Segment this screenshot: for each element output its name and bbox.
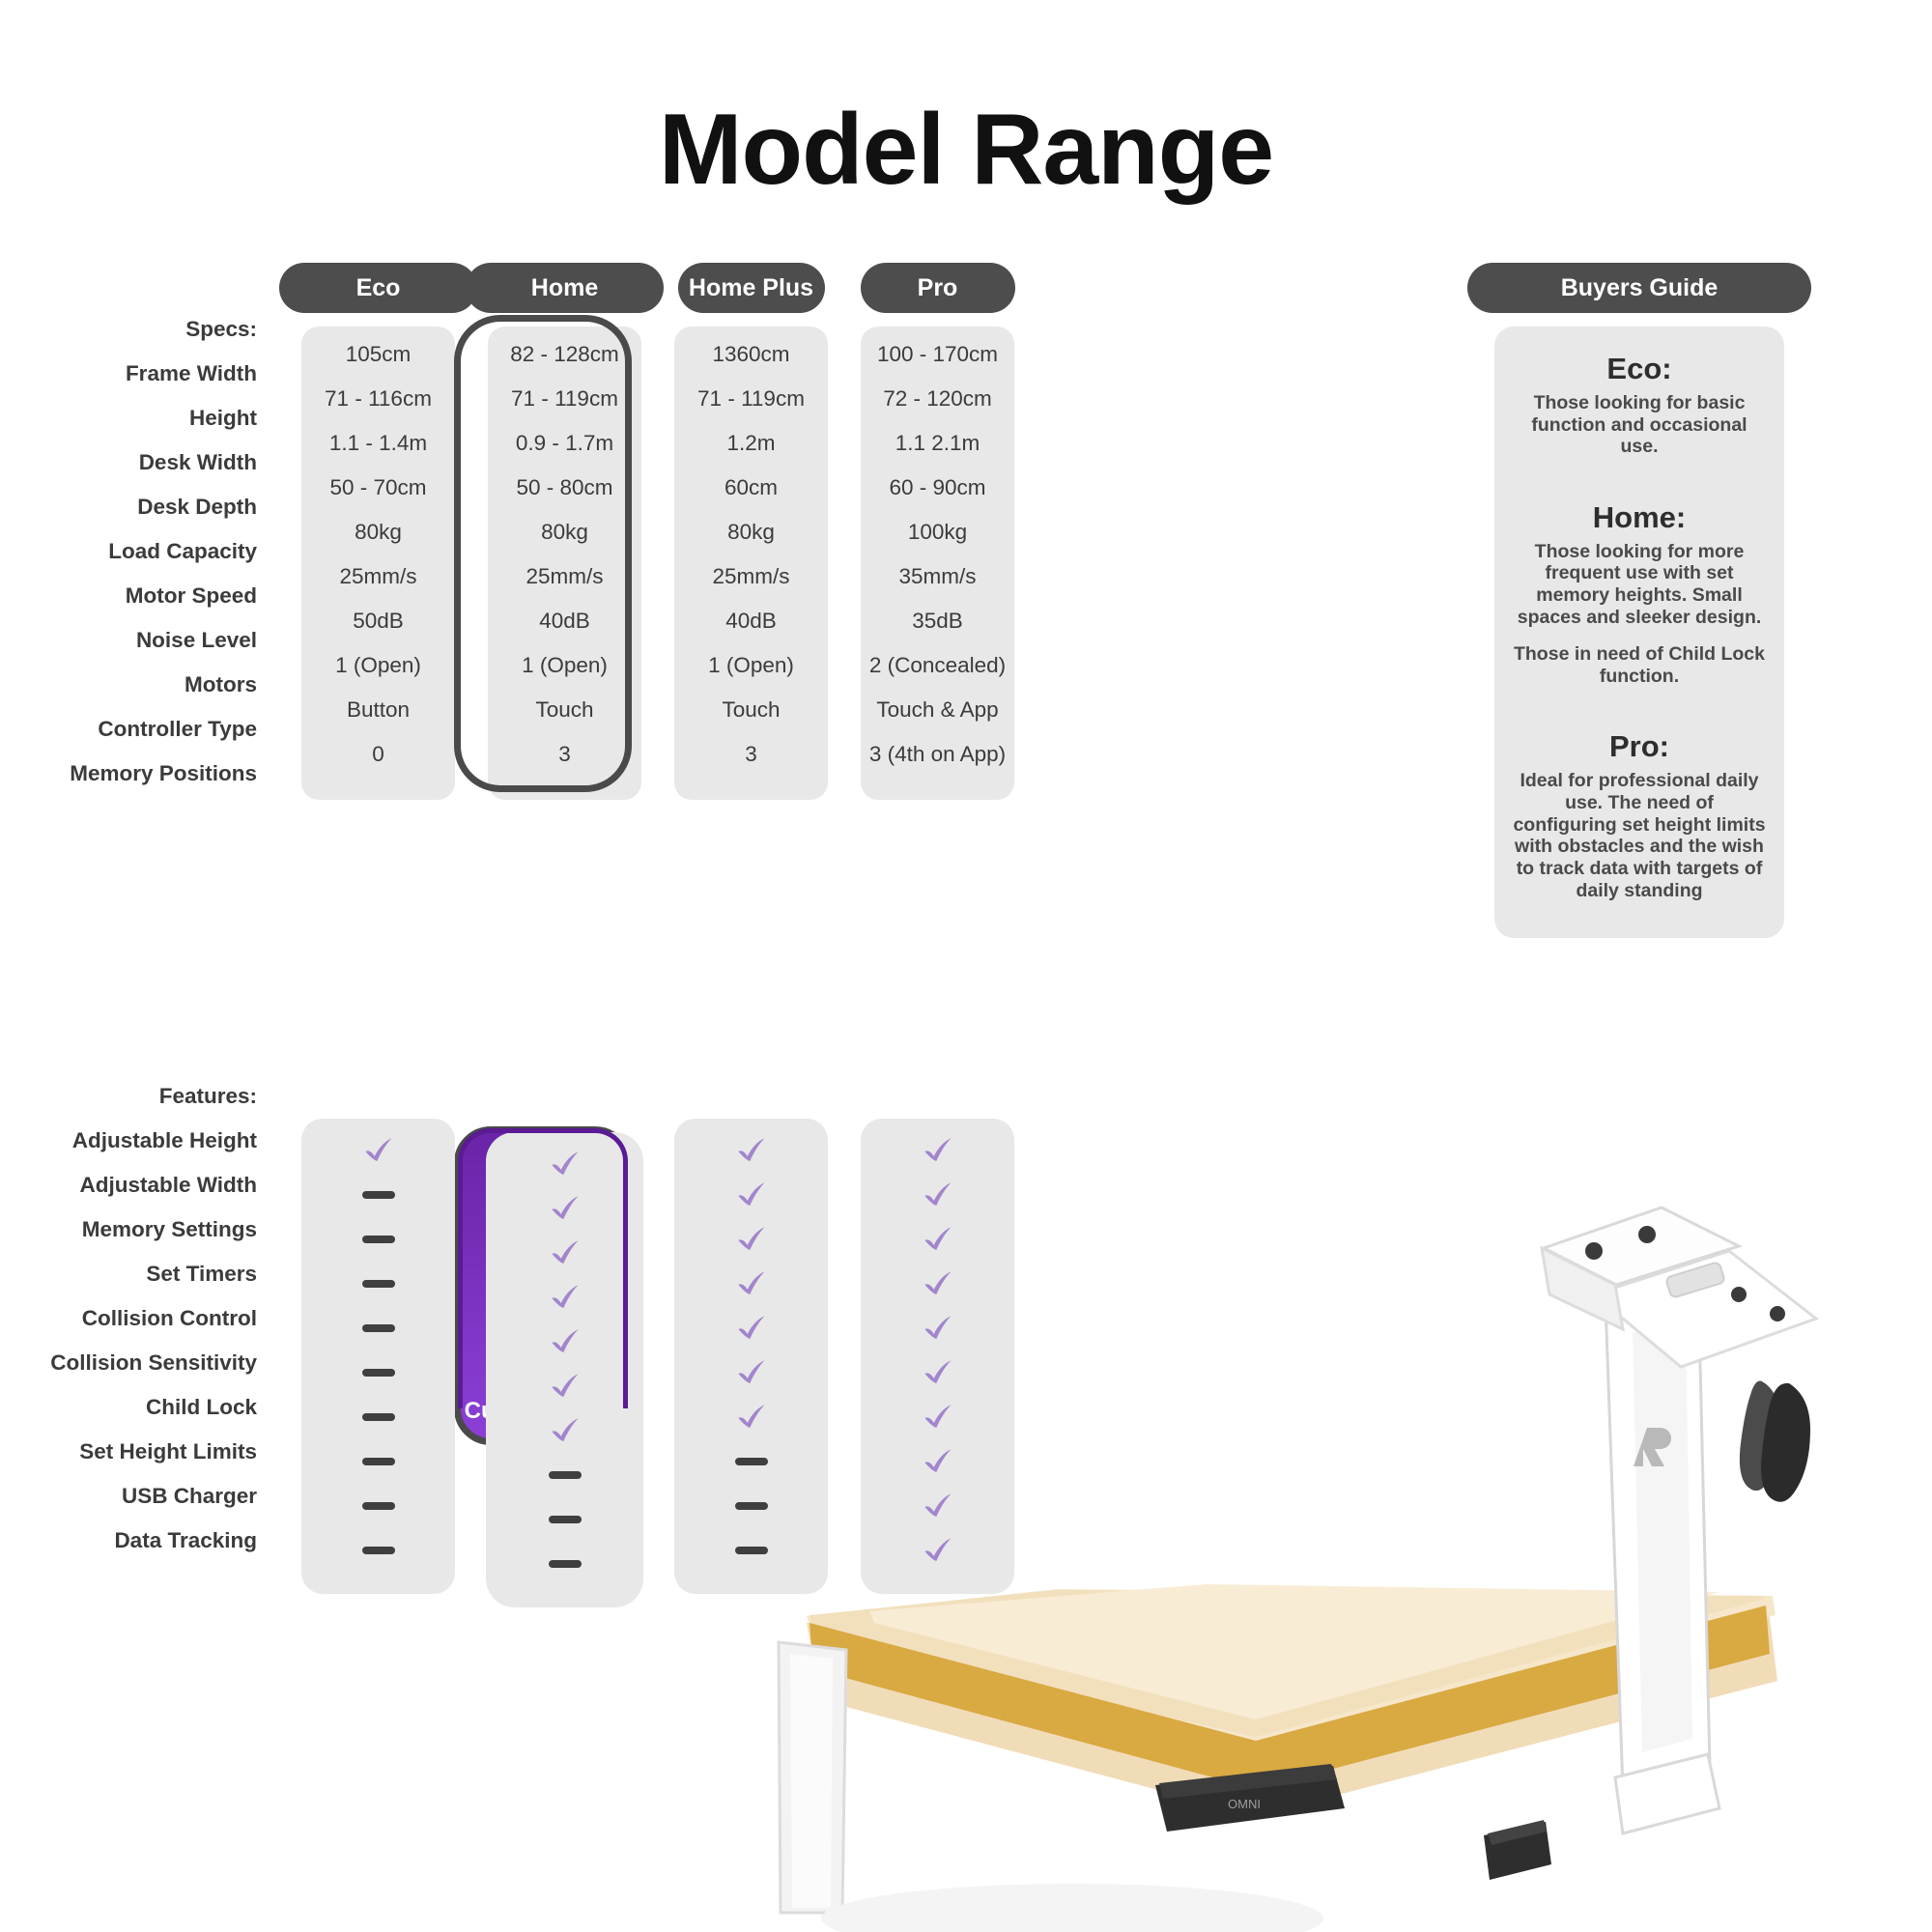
dash-icon [362,1547,395,1554]
check-icon [735,1223,768,1256]
feature-label-collision-sensitivity: Collision Sensitivity [0,1341,257,1385]
feature-cell [674,1262,828,1306]
spec-value: 60 - 90cm [861,466,1014,510]
feature-cell [301,1262,455,1306]
feature-cell [486,1275,643,1320]
check-icon [735,1179,768,1211]
column-header-home[interactable]: Home [466,263,664,313]
spec-label-motors: Motors [0,663,257,707]
check-icon [735,1134,768,1167]
feature-cell [861,1439,1014,1484]
spec-value: 60cm [674,466,828,510]
spacer [1512,687,1767,729]
feature-cell [486,1142,643,1186]
dash-icon [735,1502,768,1510]
check-icon [549,1192,582,1225]
spec-value: 3 [674,732,828,777]
feature-label-set-timers: Set Timers [0,1252,257,1296]
spec-value: 1.1 - 1.4m [301,421,455,466]
specs-card-eco: 105cm 71 - 116cm 1.1 - 1.4m 50 - 70cm 80… [301,327,455,800]
feature-cell [861,1217,1014,1262]
feature-cell [674,1350,828,1395]
svg-text:OMNI: OMNI [1228,1797,1261,1811]
feature-cell [861,1350,1014,1395]
spec-value: 35mm/s [861,554,1014,599]
feature-label-data-tracking: Data Tracking [0,1519,257,1563]
spec-value: 25mm/s [301,554,455,599]
spec-value: 100kg [861,510,1014,554]
feature-cell [674,1439,828,1484]
spec-label-height: Height [0,396,257,440]
check-icon [735,1356,768,1389]
check-icon [362,1134,395,1167]
dash-icon [362,1369,395,1377]
buyers-guide-text-home-2: Those in need of Child Lock function. [1512,643,1767,687]
feature-cell [486,1364,643,1408]
feature-cell [486,1453,643,1497]
feature-cell [301,1173,455,1217]
check-icon [549,1281,582,1314]
spec-value: 25mm/s [488,554,641,599]
check-icon [922,1534,954,1567]
feature-cell [674,1128,828,1173]
feature-cell [861,1306,1014,1350]
spec-value: 80kg [301,510,455,554]
feature-cell [486,1408,643,1453]
spec-value: 1.1 2.1m [861,421,1014,466]
dash-icon [549,1471,582,1479]
feature-cell [301,1128,455,1173]
feature-cell [486,1231,643,1275]
spec-label-frame-width: Frame Width [0,352,257,396]
spec-value: 105cm [301,332,455,377]
spec-value: 71 - 119cm [674,377,828,421]
check-icon [549,1236,582,1269]
spec-value: 1360cm [674,332,828,377]
spec-value: 0 [301,732,455,777]
spec-label-motor-speed: Motor Speed [0,574,257,618]
spec-value: 80kg [488,510,641,554]
spec-label-desk-width: Desk Width [0,440,257,485]
dash-icon [549,1560,582,1568]
buyers-guide-text-home-1: Those looking for more frequent use with… [1512,541,1767,628]
feature-cell [486,1320,643,1364]
buyers-guide-text-pro: Ideal for professional daily use. The ne… [1512,770,1767,901]
feature-cell [301,1484,455,1528]
feature-cell [301,1439,455,1484]
buyers-guide-heading-eco: Eco: [1512,352,1767,386]
feature-cell [861,1173,1014,1217]
feature-cell [301,1217,455,1262]
check-icon [922,1401,954,1434]
spec-value: 1 (Open) [301,643,455,688]
feature-cell [861,1262,1014,1306]
spec-value: 35dB [861,599,1014,643]
feature-label-adjustable-width: Adjustable Width [0,1163,257,1207]
buyers-guide-header[interactable]: Buyers Guide [1467,263,1811,313]
spec-value: 80kg [674,510,828,554]
feature-label-child-lock: Child Lock [0,1385,257,1430]
spec-label-memory-positions: Memory Positions [0,752,257,796]
dash-icon [362,1280,395,1288]
check-icon [922,1490,954,1522]
specs-card-pro: 100 - 170cm 72 - 120cm 1.1 2.1m 60 - 90c… [861,327,1014,800]
dash-icon [362,1236,395,1243]
feature-cell [301,1395,455,1439]
spec-value: 1 (Open) [488,643,641,688]
dash-icon [362,1458,395,1465]
buyers-guide-heading-pro: Pro: [1512,729,1767,764]
feature-cell [486,1497,643,1542]
buyers-guide-text-eco: Those looking for basic function and occ… [1512,392,1767,458]
feature-cell [486,1542,643,1586]
feature-cell [861,1484,1014,1528]
check-icon [922,1179,954,1211]
spec-label-desk-depth: Desk Depth [0,485,257,529]
column-header-pro[interactable]: Pro [838,263,1037,313]
spacer [1512,628,1767,643]
feature-cell [674,1306,828,1350]
spec-value: 25mm/s [674,554,828,599]
check-icon [549,1370,582,1403]
specs-label-gutter: Specs: Frame Width Height Desk Width Des… [0,307,257,796]
feature-label-collision-control: Collision Control [0,1296,257,1341]
check-icon [735,1267,768,1300]
feature-cell [486,1186,643,1231]
dash-icon [362,1502,395,1510]
buyers-guide-heading-home: Home: [1512,500,1767,535]
feature-label-set-height-limits: Set Height Limits [0,1430,257,1474]
feature-label-usb-charger: USB Charger [0,1474,257,1519]
spec-value: 50 - 70cm [301,466,455,510]
column-header-eco-label: Eco [279,263,477,313]
feature-cell [861,1395,1014,1439]
spec-value: 3 [488,732,641,777]
spec-value: 40dB [488,599,641,643]
column-header-home-label: Home [466,263,664,313]
spacer [1512,458,1767,500]
spec-label-noise-level: Noise Level [0,618,257,663]
feature-cell [861,1528,1014,1573]
check-icon [922,1134,954,1167]
dash-icon [549,1516,582,1523]
spec-label-controller-type: Controller Type [0,707,257,752]
features-card-pro [861,1119,1014,1594]
column-header-pro-label: Pro [861,263,1015,313]
spec-value: 71 - 116cm [301,377,455,421]
specs-card-home-plus: 1360cm 71 - 119cm 1.2m 60cm 80kg 25mm/s … [674,327,828,800]
spec-value: 2 (Concealed) [861,643,1014,688]
feature-cell [674,1528,828,1573]
column-header-home-plus[interactable]: Home Plus [652,263,850,313]
specs-section-title: Specs: [0,307,257,352]
features-label-gutter: Features: Adjustable Height Adjustable W… [0,1074,257,1563]
spec-value: 40dB [674,599,828,643]
feature-cell [674,1484,828,1528]
feature-cell [861,1128,1014,1173]
spec-value: 72 - 120cm [861,377,1014,421]
column-header-home-plus-label: Home Plus [678,263,825,313]
specs-card-home: 82 - 128cm 71 - 119cm 0.9 - 1.7m 50 - 80… [488,327,641,800]
spec-value: Touch [674,688,828,732]
page-title: Model Range [0,93,1932,208]
spec-value: 50 - 80cm [488,466,641,510]
spec-value: 1 (Open) [674,643,828,688]
dash-icon [735,1547,768,1554]
dash-icon [362,1324,395,1332]
spec-value: Touch & App [861,688,1014,732]
column-header-eco[interactable]: Eco [279,263,477,313]
dash-icon [362,1413,395,1421]
features-card-eco [301,1119,455,1594]
spec-label-load-capacity: Load Capacity [0,529,257,574]
check-icon [922,1223,954,1256]
check-icon [735,1312,768,1345]
check-icon [922,1312,954,1345]
feature-cell [301,1306,455,1350]
feature-cell [674,1217,828,1262]
features-card-home-plus [674,1119,828,1594]
spec-value: 0.9 - 1.7m [488,421,641,466]
model-range-page: Model Range [0,0,1932,1932]
features-section-title: Features: [0,1074,257,1119]
feature-label-adjustable-height: Adjustable Height [0,1119,257,1163]
check-icon [922,1356,954,1389]
check-icon [549,1148,582,1180]
buyers-guide-header-label: Buyers Guide [1467,263,1811,313]
spec-value: Touch [488,688,641,732]
spec-value: 82 - 128cm [488,332,641,377]
features-card-home [486,1132,643,1607]
check-icon [922,1267,954,1300]
spec-value: 100 - 170cm [861,332,1014,377]
check-icon [549,1414,582,1447]
feature-label-memory-settings: Memory Settings [0,1207,257,1252]
check-icon [735,1401,768,1434]
check-icon [549,1325,582,1358]
spec-value: 1.2m [674,421,828,466]
feature-cell [674,1395,828,1439]
buyers-guide-card: Eco: Those looking for basic function an… [1494,327,1784,938]
dash-icon [362,1191,395,1199]
feature-cell [301,1350,455,1395]
dash-icon [735,1458,768,1465]
check-icon [922,1445,954,1478]
feature-cell [674,1173,828,1217]
spec-value: 71 - 119cm [488,377,641,421]
spec-value: Button [301,688,455,732]
feature-cell [301,1528,455,1573]
spec-value: 50dB [301,599,455,643]
spec-value: 3 (4th on App) [861,732,1014,777]
